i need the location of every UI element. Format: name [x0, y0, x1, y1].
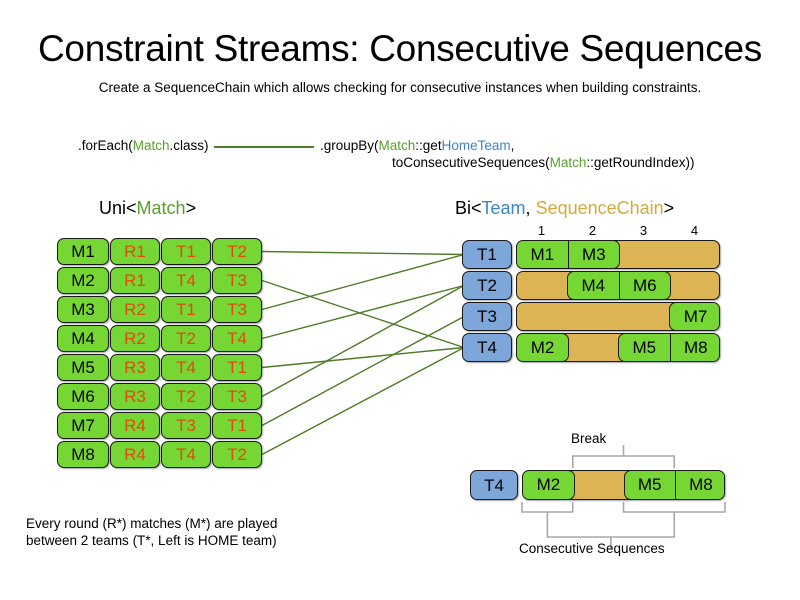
- table-row: M1R1T1T2: [57, 238, 262, 265]
- uni-cell-match: M4: [57, 325, 109, 352]
- bi-column-header: 2: [583, 223, 603, 238]
- break-sequence-run: M5M8: [624, 470, 726, 500]
- uni-cell-away: T2: [212, 238, 262, 265]
- bi-team-cell: T4: [462, 333, 512, 362]
- uni-caption-prefix: Uni<: [99, 198, 137, 218]
- match-team-link: [262, 281, 464, 348]
- sequence-slot: M2: [517, 334, 568, 361]
- bi-caption-type1: Team: [482, 198, 526, 218]
- sequence-slot: M4: [568, 272, 619, 299]
- uni-cell-round: R3: [110, 354, 160, 381]
- uni-cell-away: T2: [212, 441, 262, 468]
- uni-cell-away: T1: [212, 412, 262, 439]
- table-row: M3R2T1T3: [57, 296, 262, 323]
- code-for-each-suffix: .class): [170, 138, 209, 153]
- break-label: Break: [571, 431, 606, 446]
- code-connector-line: [214, 146, 314, 148]
- match-team-link: [262, 286, 464, 339]
- bi-team-cell: T2: [462, 271, 512, 300]
- sequence-bracket-right: [624, 502, 726, 512]
- uni-caption-type: Match: [137, 198, 186, 218]
- break-bracket: [573, 456, 675, 468]
- uni-cell-round: R3: [110, 383, 160, 410]
- code-for-each-prefix: .forEach(: [78, 138, 133, 153]
- bi-table-row: T2M4M6: [462, 271, 720, 300]
- bi-table-row: T4M2M5M8: [462, 333, 720, 362]
- uni-cell-home: T4: [161, 267, 211, 294]
- uni-cell-away: T4: [212, 325, 262, 352]
- uni-cell-round: R1: [110, 238, 160, 265]
- break-sequence-slot: M2: [523, 471, 574, 499]
- page-title: Constraint Streams: Consecutive Sequence…: [0, 28, 800, 70]
- table-row: M5R3T4T1: [57, 354, 262, 381]
- sequence-slot: M1: [517, 241, 568, 268]
- uni-cell-home: T1: [161, 296, 211, 323]
- sequence-run: M5M8: [618, 333, 720, 362]
- sequence-run: M4M6: [567, 271, 671, 300]
- sequence-slot: M5: [619, 334, 670, 361]
- uni-cell-match: M8: [57, 441, 109, 468]
- uni-cell-round: R4: [110, 441, 160, 468]
- bi-table-row: T1M1M3: [462, 240, 720, 269]
- code-group-by-accessor: HomeTeam: [442, 138, 511, 153]
- uni-cell-round: R1: [110, 267, 160, 294]
- uni-match-table: M1R1T1T2M2R1T4T3M3R2T1T3M4R2T2T4M5R3T4T1…: [57, 238, 262, 470]
- code-to-consecutive-sequences: toConsecutiveSequences(Match::getRoundIn…: [392, 155, 694, 170]
- uni-section-caption: Uni<Match>: [99, 198, 196, 219]
- bi-caption-prefix: Bi<: [455, 198, 482, 218]
- code-group-by-type: Match: [379, 138, 416, 153]
- sequence-chain-track: M4M6: [516, 271, 720, 300]
- consecutive-sequences-label: Consecutive Sequences: [519, 541, 665, 556]
- sequence-run: M7: [669, 302, 720, 331]
- uni-cell-match: M1: [57, 238, 109, 265]
- uni-cell-round: R2: [110, 296, 160, 323]
- slide-canvas: Constraint Streams: Consecutive Sequence…: [0, 0, 800, 600]
- code-group-by-prefix: .groupBy(: [320, 138, 379, 153]
- bi-team-cell: T1: [462, 240, 512, 269]
- bi-caption-type2: SequenceChain: [536, 198, 664, 218]
- code-group-by-sep: ::get: [415, 138, 441, 153]
- code-to-consecutive-suffix: ::getRoundIndex)): [586, 155, 694, 170]
- break-sequence-slot: M5: [625, 471, 675, 499]
- bi-table-row: T3M7: [462, 302, 720, 331]
- code-to-consecutive-type: Match: [550, 155, 587, 170]
- match-team-link: [262, 255, 464, 310]
- table-row: M7R4T3T1: [57, 412, 262, 439]
- bi-column-header: 3: [634, 223, 654, 238]
- uni-cell-match: M2: [57, 267, 109, 294]
- code-group-by-suffix: ,: [511, 138, 515, 153]
- code-group-by: .groupBy(Match::getHomeTeam,: [320, 138, 514, 153]
- bi-team-cell: T3: [462, 302, 512, 331]
- uni-cell-home: T2: [161, 383, 211, 410]
- break-chain-track: M2M5M8: [522, 470, 725, 500]
- break-team-cell: T4: [470, 470, 518, 500]
- sequence-slot: M3: [568, 241, 620, 268]
- table-row: M6R3T2T3: [57, 383, 262, 410]
- uni-cell-home: T4: [161, 354, 211, 381]
- uni-cell-match: M5: [57, 354, 109, 381]
- page-subtitle: Create a SequenceChain which allows chec…: [0, 80, 800, 95]
- code-for-each: .forEach(Match.class): [78, 138, 209, 153]
- sequence-slot: M8: [670, 334, 721, 361]
- uni-cell-round: R2: [110, 325, 160, 352]
- sequence-slot: M6: [619, 272, 671, 299]
- uni-cell-home: T4: [161, 441, 211, 468]
- match-team-link: [262, 252, 464, 255]
- break-sequence-slot: M8: [675, 471, 725, 499]
- sequence-slot: M7: [670, 303, 720, 330]
- uni-cell-home: T2: [161, 325, 211, 352]
- bi-caption-comma: ,: [526, 198, 536, 218]
- uni-cell-home: T1: [161, 238, 211, 265]
- uni-cell-home: T3: [161, 412, 211, 439]
- uni-cell-round: R4: [110, 412, 160, 439]
- bi-sequence-chain-table: 1234T1M1M3T2M4M6T3M7T4M2M5M8: [462, 240, 720, 368]
- bi-column-header: 4: [685, 223, 705, 238]
- uni-cell-away: T3: [212, 383, 262, 410]
- table-row: M2R1T4T3: [57, 267, 262, 294]
- match-team-link: [262, 317, 464, 426]
- match-team-link: [262, 286, 464, 397]
- uni-caption-suffix: >: [186, 198, 197, 218]
- sequence-chain-track: M1M3: [516, 240, 720, 269]
- uni-cell-away: T1: [212, 354, 262, 381]
- bi-section-caption: Bi<Team, SequenceChain>: [455, 198, 674, 219]
- table-row: M4R2T2T4: [57, 325, 262, 352]
- uni-cell-away: T3: [212, 267, 262, 294]
- break-sequence-run: M2: [522, 470, 575, 500]
- sequence-chain-track: M7: [516, 302, 720, 331]
- sequence-run: M1M3: [516, 240, 620, 269]
- uni-cell-match: M3: [57, 296, 109, 323]
- code-to-consecutive-prefix: toConsecutiveSequences(: [392, 155, 550, 170]
- table-row: M8R4T4T2: [57, 441, 262, 468]
- sequence-chain-track: M2M5M8: [516, 333, 720, 362]
- match-team-link: [262, 348, 464, 368]
- sequence-bracket-left: [522, 502, 573, 512]
- bi-caption-suffix: >: [664, 198, 675, 218]
- uni-cell-away: T3: [212, 296, 262, 323]
- match-team-link: [262, 348, 464, 455]
- footnote-text: Every round (R*) matches (M*) are played…: [26, 515, 277, 549]
- sequence-run: M2: [516, 333, 569, 362]
- uni-cell-match: M6: [57, 383, 109, 410]
- consecutive-sequences-bracket: [547, 523, 674, 537]
- break-diagram: T4M2M5M8: [470, 470, 725, 500]
- uni-cell-match: M7: [57, 412, 109, 439]
- bi-column-header: 1: [532, 223, 552, 238]
- code-for-each-type: Match: [133, 138, 170, 153]
